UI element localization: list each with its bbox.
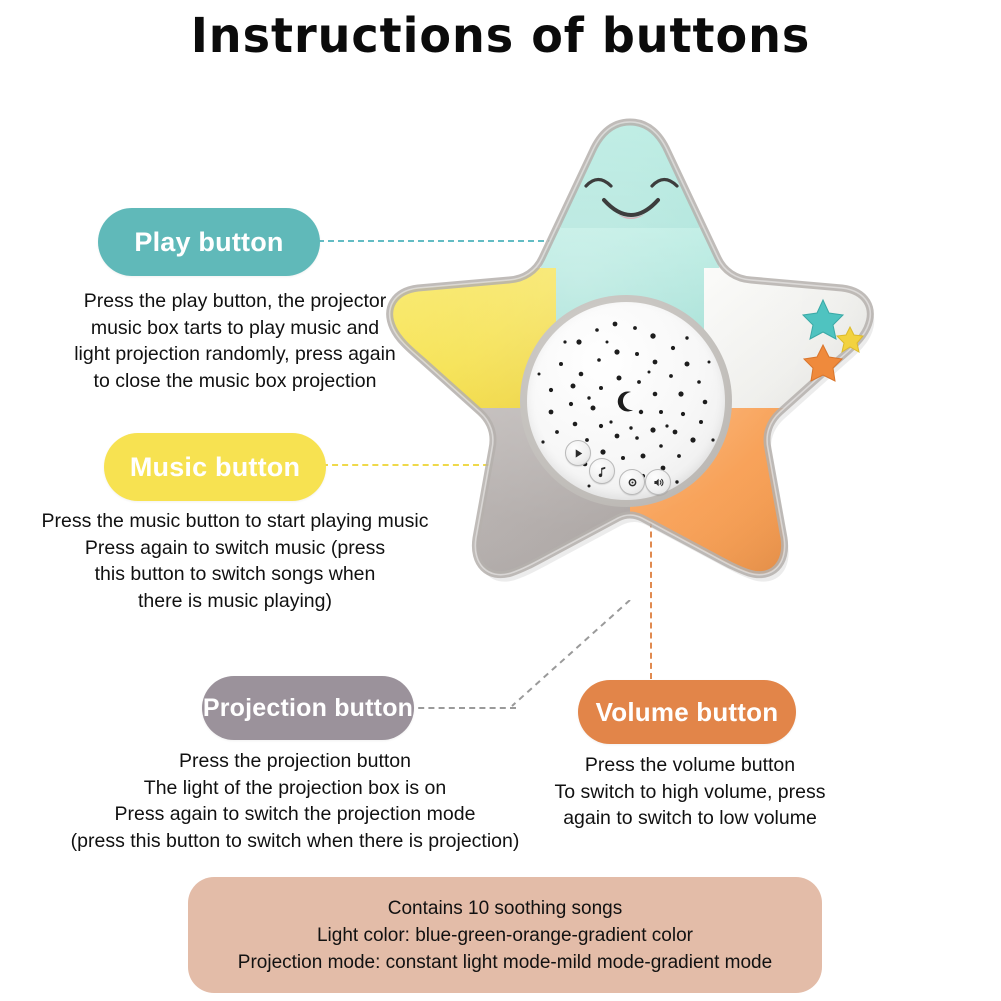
callout-music-button[interactable]: Music button <box>104 433 326 501</box>
description-line: Press the music button to start playing … <box>10 508 460 535</box>
projection-lamp-icon-button[interactable] <box>619 469 645 495</box>
callout-projection-button[interactable]: Projection button <box>202 676 414 740</box>
connector-projection-horizontal <box>408 707 516 709</box>
description-line: again to switch to low volume <box>540 805 840 832</box>
page-title: Instructions of buttons <box>20 8 981 64</box>
crescent-moon-icon <box>618 391 633 411</box>
description-line: Press again to switch music (press <box>10 535 460 562</box>
projection-lamp-icon <box>626 476 639 489</box>
description-line: Press the volume button <box>540 752 840 779</box>
description-line: Press the play button, the projector <box>35 288 435 315</box>
description-line: Press again to switch the projection mod… <box>50 801 540 828</box>
summary-line: Light color: blue-green-orange-gradient … <box>317 922 693 949</box>
description-line: light projection randomly, press again <box>35 341 435 368</box>
description-line: this button to switch songs when <box>10 561 460 588</box>
description-line: to close the music box projection <box>35 368 435 395</box>
infographic-canvas: Instructions of buttons <box>0 0 1001 1001</box>
description-play: Press the play button, the projector mus… <box>35 288 435 394</box>
description-line: To switch to high volume, press <box>540 779 840 806</box>
callout-volume-button[interactable]: Volume button <box>578 680 796 744</box>
description-line: Press the projection button <box>50 748 540 775</box>
description-music: Press the music button to start playing … <box>10 508 460 614</box>
description-volume: Press the volume button To switch to hig… <box>540 752 840 832</box>
summary-line: Contains 10 soothing songs <box>388 895 623 922</box>
callout-play-button[interactable]: Play button <box>98 208 320 276</box>
play-icon <box>572 447 585 460</box>
description-line: The light of the projection box is on <box>50 775 540 802</box>
summary-panel: Contains 10 soothing songs Light color: … <box>188 877 822 993</box>
description-line: music box tarts to play music and <box>35 315 435 342</box>
description-projection: Press the projection button The light of… <box>50 748 540 854</box>
description-line: there is music playing) <box>10 588 460 615</box>
music-note-icon <box>596 465 609 478</box>
volume-icon <box>652 476 665 489</box>
play-icon-button[interactable] <box>565 440 591 466</box>
volume-icon-button[interactable] <box>645 469 671 495</box>
summary-line: Projection mode: constant light mode-mil… <box>238 949 772 976</box>
music-note-icon-button[interactable] <box>589 458 615 484</box>
description-line: (press this button to switch when there … <box>50 828 540 855</box>
